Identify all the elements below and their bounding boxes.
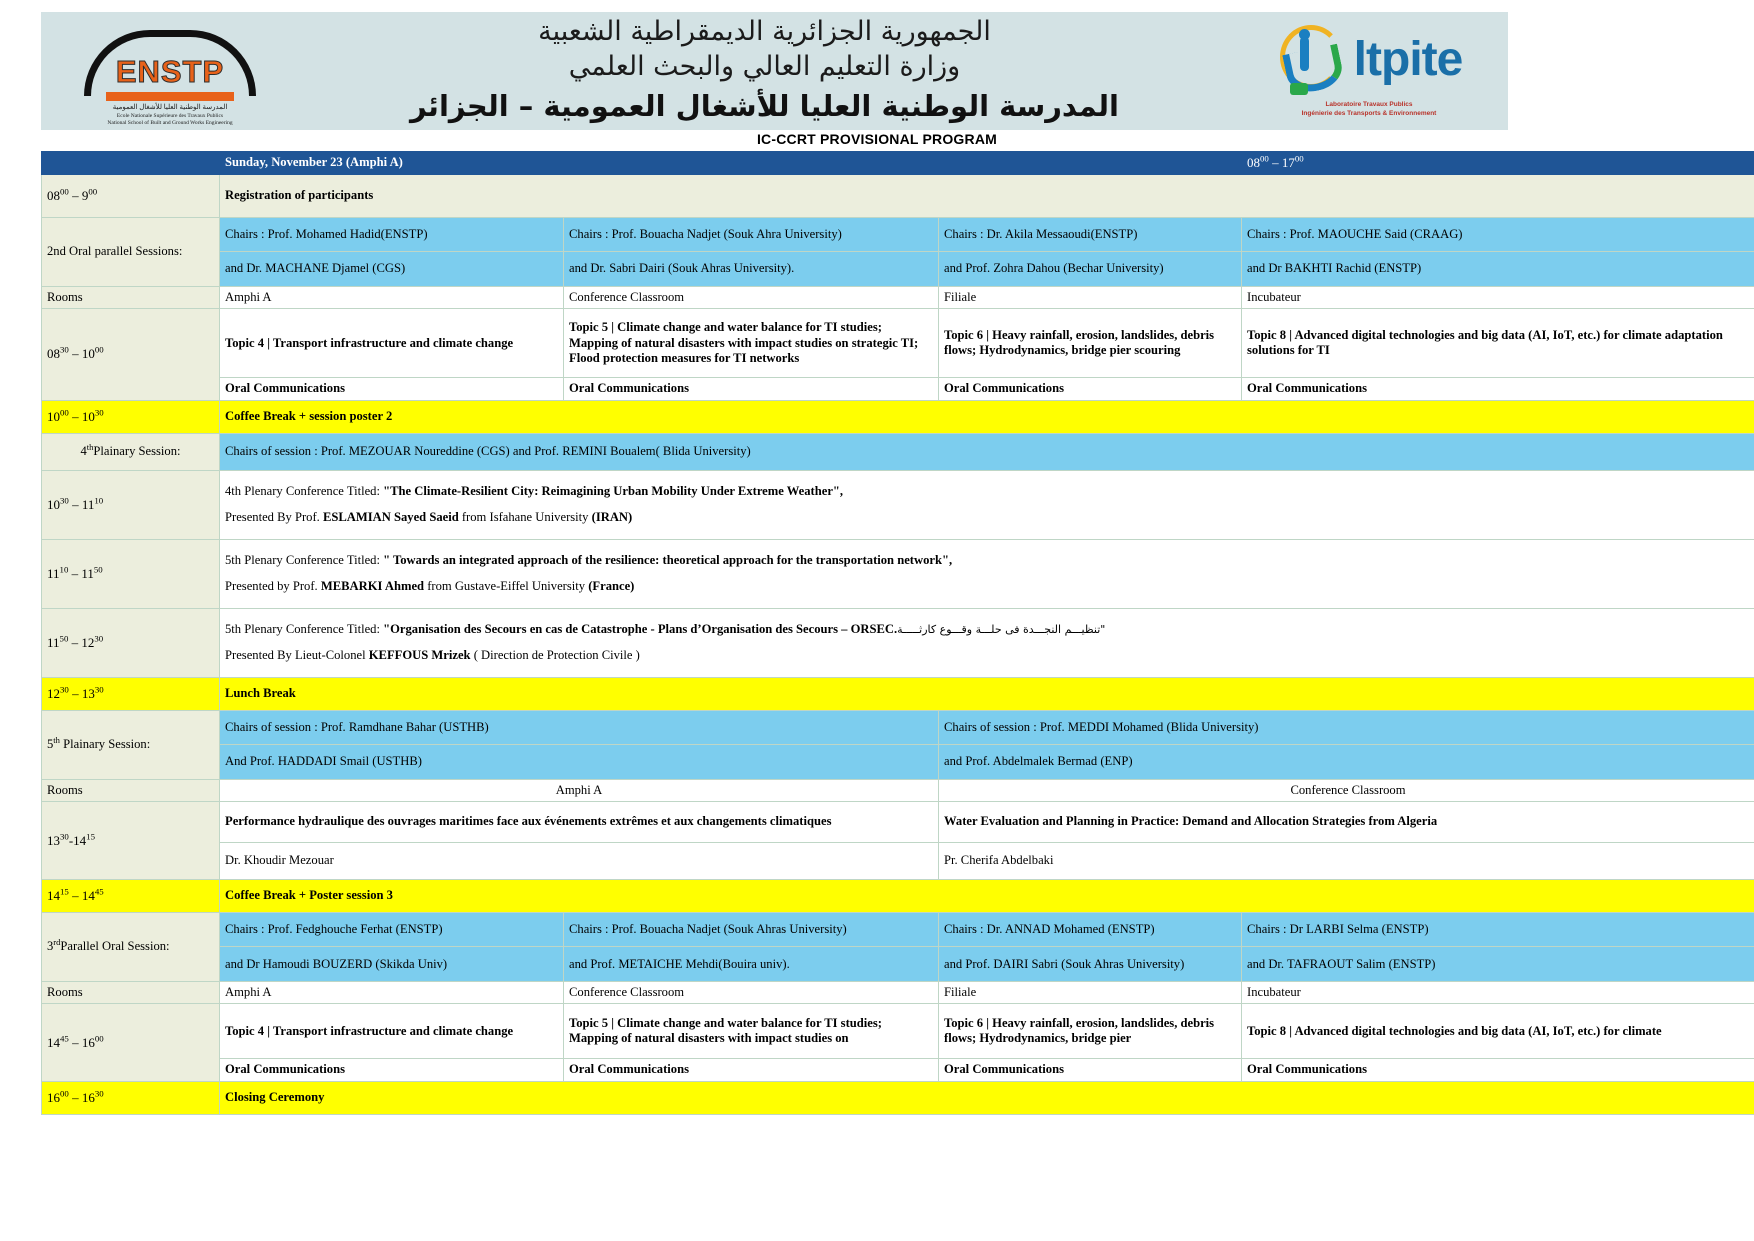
plenary5-sup: th <box>53 735 60 745</box>
enstp-subtitle-fr: Ecole Nationale Supérieure des Travaux P… <box>117 113 223 119</box>
ltpite-subtitle: Laboratoire Travaux Publics Ingénierie d… <box>1302 101 1437 119</box>
cc-s2: 30 <box>95 1088 104 1098</box>
p5-h2: 14 <box>73 833 86 848</box>
plenary5-chair-1b: And Prof. HADDADI Smail (USTHB) <box>220 745 939 780</box>
session2-chairs-row-1: 2nd Oral parallel Sessions: Chairs : Pro… <box>42 217 1754 252</box>
cb3-s1: 15 <box>60 887 69 897</box>
lunch-label-cell: Lunch Break <box>220 677 1754 710</box>
session2-chair-1a: Chairs : Prof. Mohamed Hadid(ENSTP) <box>220 217 564 252</box>
conf6-spacer <box>225 638 1752 648</box>
ltpite-subtitle-line1: Laboratoire Travaux Publics <box>1325 101 1412 108</box>
c4-s2: 10 <box>94 495 103 505</box>
plenary4-rest: Plainary Session: <box>93 444 180 458</box>
session2-room-3: Filiale <box>939 286 1242 308</box>
ltpite-wordmark: ltpite <box>1354 36 1463 84</box>
session2-chair-2b: and Dr. Sabri Dairi (Souk Ahras Universi… <box>564 252 939 287</box>
session2-chair-3b-text: and Prof. Zohra Dahou (Bechar University… <box>944 261 1164 275</box>
session3-chair-1a: Chairs : Prof. Fedghouche Ferhat (ENSTP) <box>220 912 564 947</box>
coffee-break-3-row: 1415 – 1445 Coffee Break + Poster sessio… <box>42 879 1754 912</box>
lb-h1: 12 <box>47 686 60 701</box>
cb3-h2: 14 <box>82 888 95 903</box>
session2-rooms-row: Rooms Amphi A Conference Classroom Filia… <box>42 286 1754 308</box>
cb3-s2: 45 <box>95 887 104 897</box>
conf6-time-cell: 1150 – 1230 <box>42 608 220 677</box>
lb-s2: 30 <box>95 684 104 694</box>
conf4-presenter-prefix: Presented By Prof. <box>225 510 323 524</box>
session3-time-cell: 1445 – 1600 <box>42 1004 220 1081</box>
plenary5-chairs-row-1: 5th Plainary Session: Chairs of session … <box>42 710 1754 745</box>
conf6-presenter-prefix: Presented By Lieut-Colonel <box>225 648 369 662</box>
conf5-title-prefix: 5th Plenary Conference Titled: <box>225 553 383 567</box>
conf4-title-quoted: "The Climate-Resilient City: Reimagining… <box>383 484 843 498</box>
s3-h2: 16 <box>82 1035 95 1050</box>
letterhead-banner: ENSTP المدرسة الوطنية العليا للأشغال الع… <box>41 12 1508 130</box>
session2-chair-3b: and Prof. Zohra Dahou (Bechar University… <box>939 252 1242 287</box>
ltpite-logo-block: ltpite Laboratoire Travaux Publics Ingén… <box>1244 12 1494 130</box>
plenary5-rest: Plainary Session: <box>60 737 150 751</box>
session2-chair-1b-text: and Dr. MACHANE Djamel (CGS) <box>225 261 405 275</box>
session3-chair-3b-text: and Prof. DAIRI Sabri (Souk Ahras Univer… <box>944 957 1184 971</box>
plenary4-label-cell: 4thPlainary Session: <box>42 433 220 470</box>
lunch-break-row: 1230 – 1330 Lunch Break <box>42 677 1754 710</box>
enstp-logo-icon: ENSTP المدرسة الوطنية العليا للأشغال الع… <box>70 24 270 128</box>
session2-oral-2: Oral Communications <box>564 378 939 400</box>
session3-oral-1: Oral Communications <box>220 1059 564 1081</box>
session3-chairs-row-2: and Dr Hamoudi BOUZERD (Skikda Univ) and… <box>42 947 1754 982</box>
closing-ceremony-row: 1600 – 1630 Closing Ceremony <box>42 1081 1754 1114</box>
session3-chair-3a: Chairs : Dr. ANNAD Mohamed (ENSTP) <box>939 912 1242 947</box>
session3-chair-1b: and Dr Hamoudi BOUZERD (Skikda Univ) <box>220 947 564 982</box>
ltpite-subtitle-line2: Ingénierie des Transports & Environnemen… <box>1302 110 1437 117</box>
conference-4-row: 1030 – 1110 4th Plenary Conference Title… <box>42 470 1754 539</box>
s2-s2: 00 <box>95 345 104 355</box>
coffee3-time-cell: 1415 – 1445 <box>42 879 220 912</box>
plenary4-chairs-text: Chairs of session : Prof. MEZOUAR Noured… <box>225 444 751 458</box>
c6-h1: 11 <box>47 635 60 650</box>
conf6-title-line: 5th Plenary Conference Titled: "Organisa… <box>225 622 1752 637</box>
header-time-s1: 00 <box>1260 154 1269 164</box>
conf6-title-quoted: "Organisation des Secours en cas de Cata… <box>383 622 897 636</box>
republic-line: الجمهورية الجزائرية الديمقراطية الشعبية <box>295 14 1234 50</box>
cb2-s1: 00 <box>60 407 69 417</box>
plenary5-time-cell: 1330-1415 <box>42 801 220 879</box>
session2-chair-3a-text: Chairs : Dr. Akila Messaoudi(ENSTP) <box>944 227 1137 241</box>
c6-s1: 50 <box>60 633 69 643</box>
header-time-cell: 0800 – 1700 <box>1242 152 1754 175</box>
c5-h2: 11 <box>81 566 94 581</box>
session3-oral-2: Oral Communications <box>564 1059 939 1081</box>
session2-chair-2a: Chairs : Prof. Bouacha Nadjet (Souk Ahra… <box>564 217 939 252</box>
session3-rest: Parallel Oral Session: <box>60 939 169 953</box>
cc-s1: 00 <box>60 1088 69 1098</box>
plenary5-room-2: Conference Classroom <box>939 779 1754 801</box>
session3-chair-4b-text: and Dr. TAFRAOUT Salim (ENSTP) <box>1247 957 1436 971</box>
c4-h1: 10 <box>47 497 60 512</box>
conf4-time-cell: 1030 – 1110 <box>42 470 220 539</box>
ltpite-mark-shape <box>1276 23 1348 97</box>
c5-s1: 10 <box>60 564 69 574</box>
cc-h1: 16 <box>47 1090 60 1105</box>
plenary5-chair-2b: and Prof. Abdelmalek Bermad (ENP) <box>939 745 1754 780</box>
coffee3-label-cell: Coffee Break + Poster session 3 <box>220 879 1754 912</box>
session2-room-4: Incubateur <box>1242 286 1754 308</box>
session2-chair-4b-text: and Dr BAKHTI Rachid (ENSTP) <box>1247 261 1421 275</box>
cb3-h1: 14 <box>47 888 60 903</box>
s3-h1: 14 <box>47 1035 60 1050</box>
header-time-s2: 00 <box>1295 154 1304 164</box>
s3-s1: 45 <box>60 1033 69 1043</box>
header-blank-cell <box>42 152 220 175</box>
session3-room-4: Incubateur <box>1242 981 1754 1003</box>
plenary5-chair-2a: Chairs of session : Prof. MEDDI Mohamed … <box>939 710 1754 745</box>
conf4-presenter-country: (IRAN) <box>592 510 633 524</box>
ministry-heading-block: الجمهورية الجزائرية الديمقراطية الشعبية … <box>285 14 1244 129</box>
session2-room-1: Amphi A <box>220 286 564 308</box>
session3-topic-1: Topic 4 | Transport infrastructure and c… <box>220 1004 564 1059</box>
coffee-break-2-row: 1000 – 1030 Coffee Break + session poste… <box>42 400 1754 433</box>
coffee2-label-cell: Coffee Break + session poster 2 <box>220 400 1754 433</box>
enstp-arabic-subtitle: المدرسة الوطنية العليا للأشغال العمومية <box>70 103 270 111</box>
session3-topic-3: Topic 6 | Heavy rainfall, erosion, lands… <box>939 1004 1242 1059</box>
conference-5-row: 1110 – 1150 5th Plenary Conference Title… <box>42 539 1754 608</box>
session2-chair-2b-text: and Dr. Sabri Dairi (Souk Ahras Universi… <box>569 261 794 275</box>
conf4-title-line: 4th Plenary Conference Titled: "The Clim… <box>225 484 1752 499</box>
reg-s1: 00 <box>60 187 69 197</box>
lb-h2: 13 <box>82 686 95 701</box>
session3-chair-3b: and Prof. DAIRI Sabri (Souk Ahras Univer… <box>939 947 1242 982</box>
session3-topic-2: Topic 5 | Climate change and water balan… <box>564 1004 939 1059</box>
session2-chairs-row-2: and Dr. MACHANE Djamel (CGS) and Dr. Sab… <box>42 252 1754 287</box>
lunch-time-cell: 1230 – 1330 <box>42 677 220 710</box>
plenary5-talk-2: Water Evaluation and Planning in Practic… <box>939 801 1754 842</box>
enstp-orange-bar <box>106 92 234 101</box>
conf5-title-line: 5th Plenary Conference Titled: " Towards… <box>225 553 1752 568</box>
c4-s1: 30 <box>60 495 69 505</box>
conf6-presenter-line: Presented By Lieut-Colonel KEFFOUS Mrize… <box>225 648 1752 663</box>
session2-topic-1: Topic 4 | Transport infrastructure and c… <box>220 309 564 378</box>
ministry-line: وزارة التعليم العالي والبحث العلمي <box>295 49 1234 85</box>
conference-6-row: 1150 – 1230 5th Plenary Conference Title… <box>42 608 1754 677</box>
conf4-presenter-affil: from Isfahane University <box>459 510 592 524</box>
session2-chair-1b: and Dr. MACHANE Djamel (CGS) <box>220 252 564 287</box>
plenary5-talk-1: Performance hydraulique des ouvrages mar… <box>220 801 939 842</box>
c6-h2: 12 <box>81 635 94 650</box>
session2-topic-2: Topic 5 | Climate change and water balan… <box>564 309 939 378</box>
plenary5-speaker-2: Pr. Cherifa Abdelbaki <box>939 842 1754 879</box>
s2-h1: 08 <box>47 346 60 361</box>
conf5-spacer <box>225 569 1752 579</box>
ltpite-logo-icon: ltpite <box>1276 23 1463 97</box>
registration-row: 0800 – 900 Registration of participants <box>42 174 1754 217</box>
session3-room-3: Filiale <box>939 981 1242 1003</box>
conf5-presenter-prefix: Presented by Prof. <box>225 579 321 593</box>
reg-s2: 00 <box>88 187 97 197</box>
session3-room-2: Conference Classroom <box>564 981 939 1003</box>
c6-s2: 30 <box>94 633 103 643</box>
plenary5-chairs-row-2: And Prof. HADDADI Smail (USTHB) and Prof… <box>42 745 1754 780</box>
s3-s2: 00 <box>95 1033 104 1043</box>
p5-s1: 30 <box>60 831 69 841</box>
session2-topics-row: 0830 – 1000 Topic 4 | Transport infrastr… <box>42 309 1754 378</box>
plenary5-speakers-row: Dr. Khoudir Mezouar Pr. Cherifa Abdelbak… <box>42 842 1754 879</box>
session3-rooms-label: Rooms <box>42 981 220 1003</box>
closing-time-cell: 1600 – 1630 <box>42 1081 220 1114</box>
conf4-presenter-line: Presented By Prof. ESLAMIAN Sayed Saeid … <box>225 510 1752 525</box>
session3-chair-2b: and Prof. METAICHE Mehdi(Bouira univ). <box>564 947 939 982</box>
conf5-presenter-affil: from Gustave-Eiffel University <box>424 579 588 593</box>
program-page: ENSTP المدرسة الوطنية العليا للأشغال الع… <box>0 0 1754 1241</box>
cc-h2: 16 <box>82 1090 95 1105</box>
header-day-cell: Sunday, November 23 (Amphi A) <box>220 152 1242 175</box>
session3-oral-3: Oral Communications <box>939 1059 1242 1081</box>
conf4-presenter-name: ESLAMIAN Sayed Saeid <box>323 510 459 524</box>
coffee2-time-cell: 1000 – 1030 <box>42 400 220 433</box>
cb2-h2: 10 <box>82 409 95 424</box>
c4-h2: 11 <box>82 497 95 512</box>
session2-chair-4b: and Dr BAKHTI Rachid (ENSTP) <box>1242 252 1754 287</box>
plenary5-label-cell: 5th Plainary Session: <box>42 710 220 779</box>
session2-chair-1a-text: Chairs : Prof. Mohamed Hadid(ENSTP) <box>225 227 428 241</box>
header-time-h1: 08 <box>1247 155 1260 170</box>
c5-s2: 50 <box>94 564 103 574</box>
enstp-logo-block: ENSTP المدرسة الوطنية العليا للأشغال الع… <box>55 12 285 130</box>
s2-s1: 30 <box>60 345 69 355</box>
session3-rooms-row: Rooms Amphi A Conference Classroom Filia… <box>42 981 1754 1003</box>
conf5-content-cell: 5th Plenary Conference Titled: " Towards… <box>220 539 1754 608</box>
enstp-acronym-text: ENSTP <box>70 54 270 90</box>
session2-topic-3: Topic 6 | Heavy rainfall, erosion, lands… <box>939 309 1242 378</box>
registration-time-cell: 0800 – 900 <box>42 174 220 217</box>
enstp-subtitle-en: National School of Built and Ground Work… <box>107 120 232 126</box>
conf6-content-cell: 5th Plenary Conference Titled: "Organisa… <box>220 608 1754 677</box>
session3-topics-row: 1445 – 1600 Topic 4 | Transport infrastr… <box>42 1004 1754 1059</box>
session2-chair-4a: Chairs : Prof. MAOUCHE Said (CRAAG) <box>1242 217 1754 252</box>
enstp-latin-subtitle: Ecole Nationale Supérieure des Travaux P… <box>70 113 270 127</box>
conf6-presenter-name: KEFFOUS Mrizek <box>369 648 471 662</box>
session3-chair-1b-text: and Dr Hamoudi BOUZERD (Skikda Univ) <box>225 957 447 971</box>
cb2-s2: 30 <box>95 407 104 417</box>
plenary5-chair-2b-text: and Prof. Abdelmalek Bermad (ENP) <box>944 754 1133 768</box>
session3-room-1: Amphi A <box>220 981 564 1003</box>
session3-chair-1a-text: Chairs : Prof. Fedghouche Ferhat (ENSTP) <box>225 922 443 936</box>
reg-h1: 08 <box>47 188 60 203</box>
table-header-row: Sunday, November 23 (Amphi A) 0800 – 170… <box>42 152 1754 175</box>
program-table-wrapper: Sunday, November 23 (Amphi A) 0800 – 170… <box>41 151 1754 1115</box>
session3-chair-4a: Chairs : Dr LARBI Selma (ENSTP) <box>1242 912 1754 947</box>
session3-topic-4: Topic 8 | Advanced digital technologies … <box>1242 1004 1754 1059</box>
conf6-title-prefix: 5th Plenary Conference Titled: <box>225 622 383 636</box>
plenary5-chair-1b-text: And Prof. HADDADI Smail (USTHB) <box>225 754 422 768</box>
session3-oral-row: Oral Communications Oral Communications … <box>42 1059 1754 1081</box>
session3-chairs-row-1: 3rdParallel Oral Session: Chairs : Prof.… <box>42 912 1754 947</box>
header-day-label: Sunday, November 23 (Amphi A) <box>225 155 403 169</box>
session3-chair-4b: and Dr. TAFRAOUT Salim (ENSTP) <box>1242 947 1754 982</box>
session2-oral-1: Oral Communications <box>220 378 564 400</box>
plenary4-row: 4thPlainary Session: Chairs of session :… <box>42 433 1754 470</box>
plenary5-chair-2a-text: Chairs of session : Prof. MEDDI Mohamed … <box>944 720 1258 734</box>
plenary5-speaker-1: Dr. Khoudir Mezouar <box>220 842 939 879</box>
p5-h1: 13 <box>47 833 60 848</box>
session3-label-cell: 3rdParallel Oral Session: <box>42 912 220 981</box>
conf5-time-cell: 1110 – 1150 <box>42 539 220 608</box>
plenary5-chair-1a-text: Chairs of session : Prof. Ramdhane Bahar… <box>225 720 489 734</box>
session2-oral-row: Oral Communications Oral Communications … <box>42 378 1754 400</box>
session3-chair-2a: Chairs : Prof. Bouacha Nadjet (Souk Ahra… <box>564 912 939 947</box>
session2-chair-4a-text: Chairs : Prof. MAOUCHE Said (CRAAG) <box>1247 227 1463 241</box>
conf5-presenter-name: MEBARKI Ahmed <box>321 579 424 593</box>
p5-s2: 15 <box>86 831 95 841</box>
session3-chair-2a-text: Chairs : Prof. Bouacha Nadjet (Souk Ahra… <box>569 922 847 936</box>
session2-room-2: Conference Classroom <box>564 286 939 308</box>
conf6-presenter-affil: ( Direction de Protection Civile ) <box>471 648 640 662</box>
session3-chair-4a-text: Chairs : Dr LARBI Selma (ENSTP) <box>1247 922 1429 936</box>
conf4-content-cell: 4th Plenary Conference Titled: "The Clim… <box>220 470 1754 539</box>
session3-chair-3a-text: Chairs : Dr. ANNAD Mohamed (ENSTP) <box>944 922 1155 936</box>
session2-chair-2a-text: Chairs : Prof. Bouacha Nadjet (Souk Ahra… <box>569 227 842 241</box>
conf6-title-arabic: "تنظيـــم النجـــدة فى حلـــة وقـــوع كا… <box>897 623 1105 636</box>
plenary5-rooms-label: Rooms <box>42 779 220 801</box>
session2-oral-3: Oral Communications <box>939 378 1242 400</box>
lb-s1: 30 <box>60 684 69 694</box>
c5-h1: 11 <box>47 566 60 581</box>
school-line: المدرسة الوطنية العليا للأشغال العمومية … <box>295 85 1234 129</box>
conf4-spacer <box>225 500 1752 510</box>
closing-label-cell: Closing Ceremony <box>220 1081 1754 1114</box>
session2-time-cell: 0830 – 1000 <box>42 309 220 400</box>
conf5-presenter-country: (France) <box>588 579 634 593</box>
session3-oral-4: Oral Communications <box>1242 1059 1754 1081</box>
ltpite-green-shape <box>1290 83 1308 95</box>
page-title: IC-CCRT PROVISIONAL PROGRAM <box>0 131 1754 147</box>
session2-rooms-label: Rooms <box>42 286 220 308</box>
session3-chair-2b-text: and Prof. METAICHE Mehdi(Bouira univ). <box>569 957 790 971</box>
s2-h2: 10 <box>82 346 95 361</box>
cb2-h1: 10 <box>47 409 60 424</box>
registration-label-cell: Registration of participants <box>220 174 1754 217</box>
plenary5-room-1: Amphi A <box>220 779 939 801</box>
session2-chair-3a: Chairs : Dr. Akila Messaoudi(ENSTP) <box>939 217 1242 252</box>
plenary5-rooms-row: Rooms Amphi A Conference Classroom <box>42 779 1754 801</box>
header-time-h2: 17 <box>1282 155 1295 170</box>
plenary5-chair-1a: Chairs of session : Prof. Ramdhane Bahar… <box>220 710 939 745</box>
plenary4-chairs-cell: Chairs of session : Prof. MEZOUAR Noured… <box>220 433 1754 470</box>
session2-label-cell: 2nd Oral parallel Sessions: <box>42 217 220 286</box>
conf4-title-prefix: 4th Plenary Conference Titled: <box>225 484 383 498</box>
plenary5-talks-row: 1330-1415 Performance hydraulique des ou… <box>42 801 1754 842</box>
conf5-presenter-line: Presented by Prof. MEBARKI Ahmed from Gu… <box>225 579 1752 594</box>
conf5-title-quoted: " Towards an integrated approach of the … <box>383 553 952 567</box>
session2-topic-4: Topic 8 | Advanced digital technologies … <box>1242 309 1754 378</box>
program-table: Sunday, November 23 (Amphi A) 0800 – 170… <box>41 151 1754 1115</box>
ltpite-person-shape <box>1300 37 1309 71</box>
session2-oral-4: Oral Communications <box>1242 378 1754 400</box>
